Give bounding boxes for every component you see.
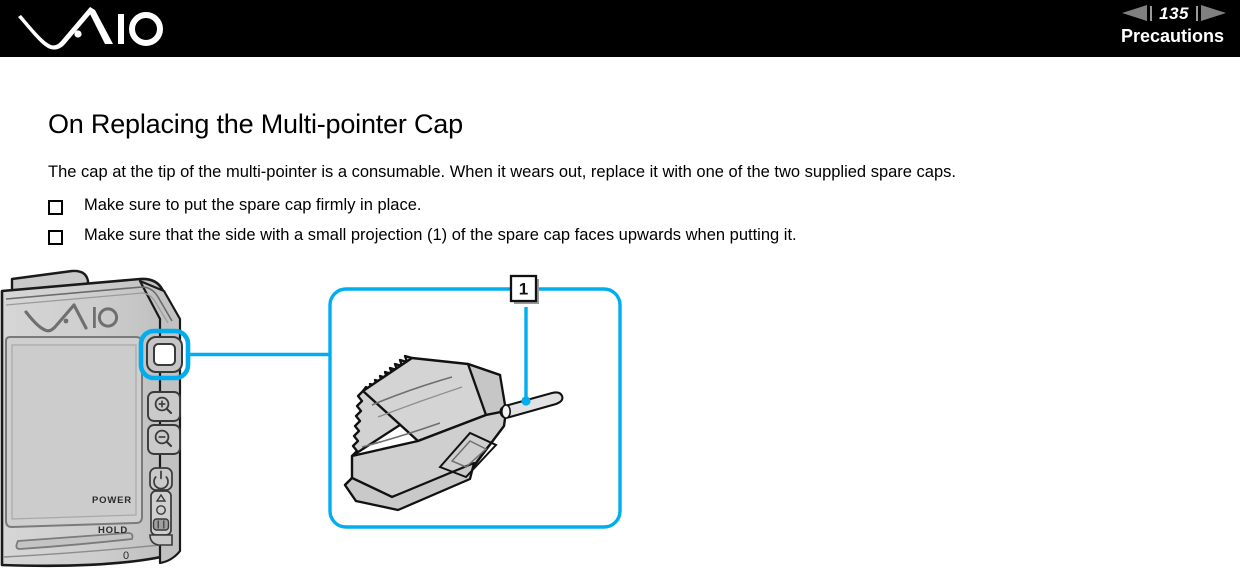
page-title: On Replacing the Multi-pointer Cap (48, 108, 463, 140)
instruction-list: Make sure to put the spare cap firmly in… (48, 195, 797, 255)
square-bullet-icon (48, 230, 63, 245)
list-item-label: Make sure to put the spare cap firmly in… (84, 195, 422, 216)
list-item: Make sure to put the spare cap firmly in… (48, 195, 797, 225)
callout-marker-label: 1 (519, 280, 528, 299)
square-bullet-icon (48, 200, 63, 215)
callout-marker-1: 1 (511, 276, 539, 304)
intro-paragraph: The cap at the tip of the multi-pointer … (48, 162, 956, 183)
power-switch-assembly[interactable] (150, 468, 172, 545)
hold-label: HOLD (98, 525, 128, 536)
nav-separator-left (1150, 6, 1152, 21)
marker-leader-dot (521, 396, 530, 405)
next-page-arrow-icon[interactable] (1200, 5, 1226, 21)
nav-separator-right (1196, 6, 1198, 21)
power-label: POWER (92, 495, 132, 506)
prev-page-arrow-icon[interactable] (1122, 5, 1148, 21)
list-item-label: Make sure that the side with a small pro… (84, 225, 797, 246)
page-header: 135 Precautions (0, 0, 1240, 57)
list-item: Make sure that the side with a small pro… (48, 225, 797, 255)
page-nav[interactable]: 135 (1122, 2, 1226, 24)
vaio-logo (18, 6, 168, 51)
port-label: 0 (123, 550, 129, 562)
zoom-in-button[interactable] (148, 392, 180, 421)
device-illustration: POWER HOLD 0 (2, 271, 188, 566)
callout-box: 1 (330, 276, 620, 527)
page-number: 135 (1154, 5, 1194, 22)
section-title: Precautions (1121, 25, 1224, 47)
figure-multipointer-cap: POWER HOLD 0 (0, 265, 1240, 574)
zoom-out-button[interactable] (148, 425, 180, 454)
